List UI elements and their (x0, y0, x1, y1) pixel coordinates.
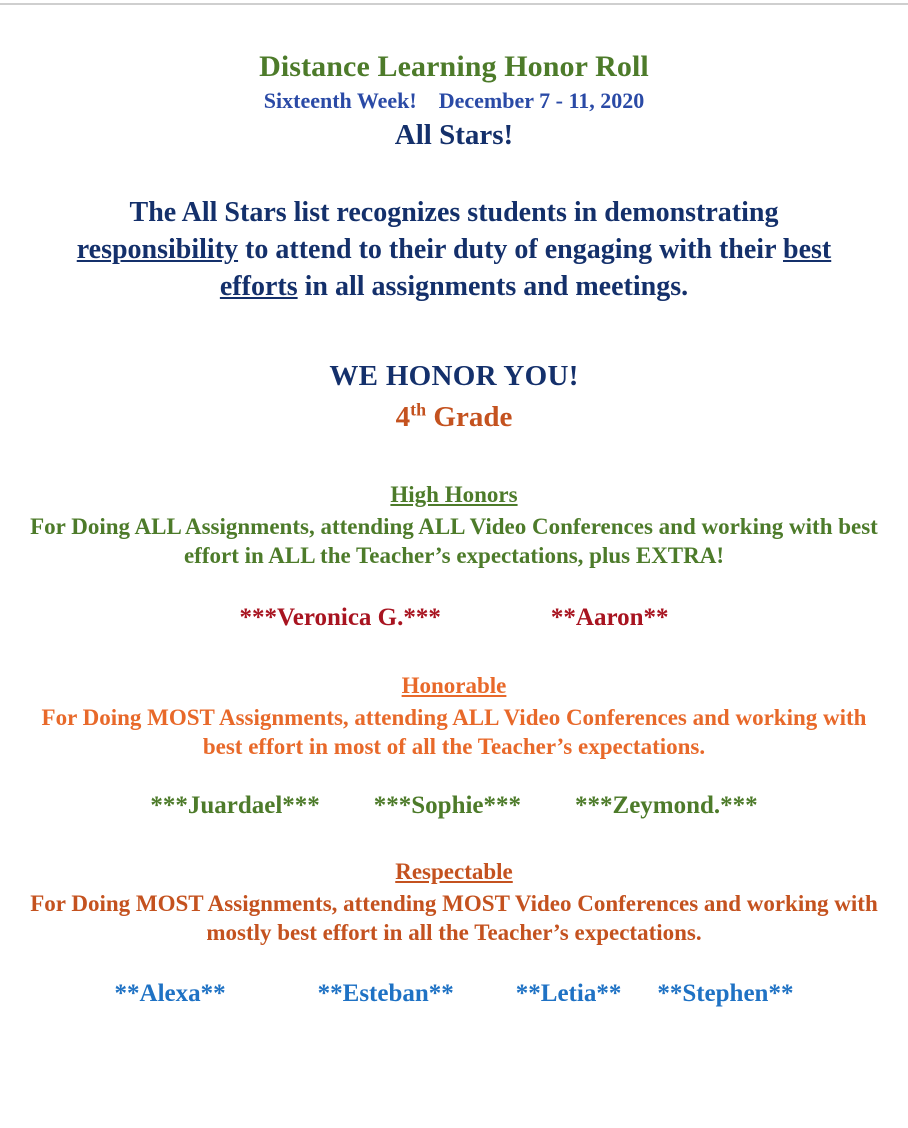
section-title-respectable: Respectable (30, 858, 878, 887)
student-name: ***Sophie*** (374, 791, 521, 821)
intro-text-part3: in all assignments and meetings. (298, 271, 689, 302)
student-name: **Stephen** (657, 979, 793, 1009)
names-row-honorable: ***Juardael*** ***Sophie*** ***Zeymond.*… (30, 791, 878, 821)
intro-emphasis-responsibility: responsibility (77, 234, 238, 265)
student-name: **Aaron** (551, 603, 669, 633)
honor-headline: WE HONOR YOU! (30, 359, 878, 394)
intro-text-part2: to attend to their duty of engaging with… (238, 234, 783, 265)
grade-word: Grade (426, 401, 512, 433)
intro-paragraph: The All Stars list recognizes students i… (54, 194, 854, 306)
grade-number: 4 (396, 401, 411, 433)
student-name: ***Veronica G.*** (239, 603, 440, 633)
honor-roll-document: Distance Learning Honor Roll Sixteenth W… (0, 0, 908, 1128)
page-title: Distance Learning Honor Roll (30, 50, 878, 84)
names-row-high-honors: ***Veronica G.*** **Aaron** (30, 603, 878, 633)
intro-text-part1: The All Stars list recognizes students i… (130, 197, 779, 228)
grade-label: 4th Grade (30, 400, 878, 435)
grade-ordinal-suffix: th (410, 400, 426, 420)
section-description-respectable: For Doing MOST Assignments, attending MO… (30, 889, 878, 947)
week-and-date-line: Sixteenth Week! December 7 - 11, 2020 (30, 88, 878, 114)
student-name: **Letia** (516, 979, 622, 1009)
section-high-honors: High Honors For Doing ALL Assignments, a… (30, 481, 878, 570)
document-header: Distance Learning Honor Roll Sixteenth W… (30, 50, 878, 153)
section-description-high-honors: For Doing ALL Assignments, attending ALL… (30, 512, 878, 570)
section-respectable: Respectable For Doing MOST Assignments, … (30, 858, 878, 947)
section-title-honorable: Honorable (30, 672, 878, 701)
student-name: **Alexa** (115, 979, 226, 1009)
student-name: ***Zeymond.*** (575, 791, 758, 821)
document-subtitle: All Stars! (30, 118, 878, 153)
student-name: ***Juardael*** (150, 791, 319, 821)
section-description-honorable: For Doing MOST Assignments, attending AL… (30, 703, 878, 761)
names-row-respectable: **Alexa** **Esteban** **Letia** **Stephe… (30, 979, 878, 1009)
section-title-high-honors: High Honors (30, 481, 878, 510)
section-honorable: Honorable For Doing MOST Assignments, at… (30, 672, 878, 761)
student-name: **Esteban** (318, 979, 454, 1009)
